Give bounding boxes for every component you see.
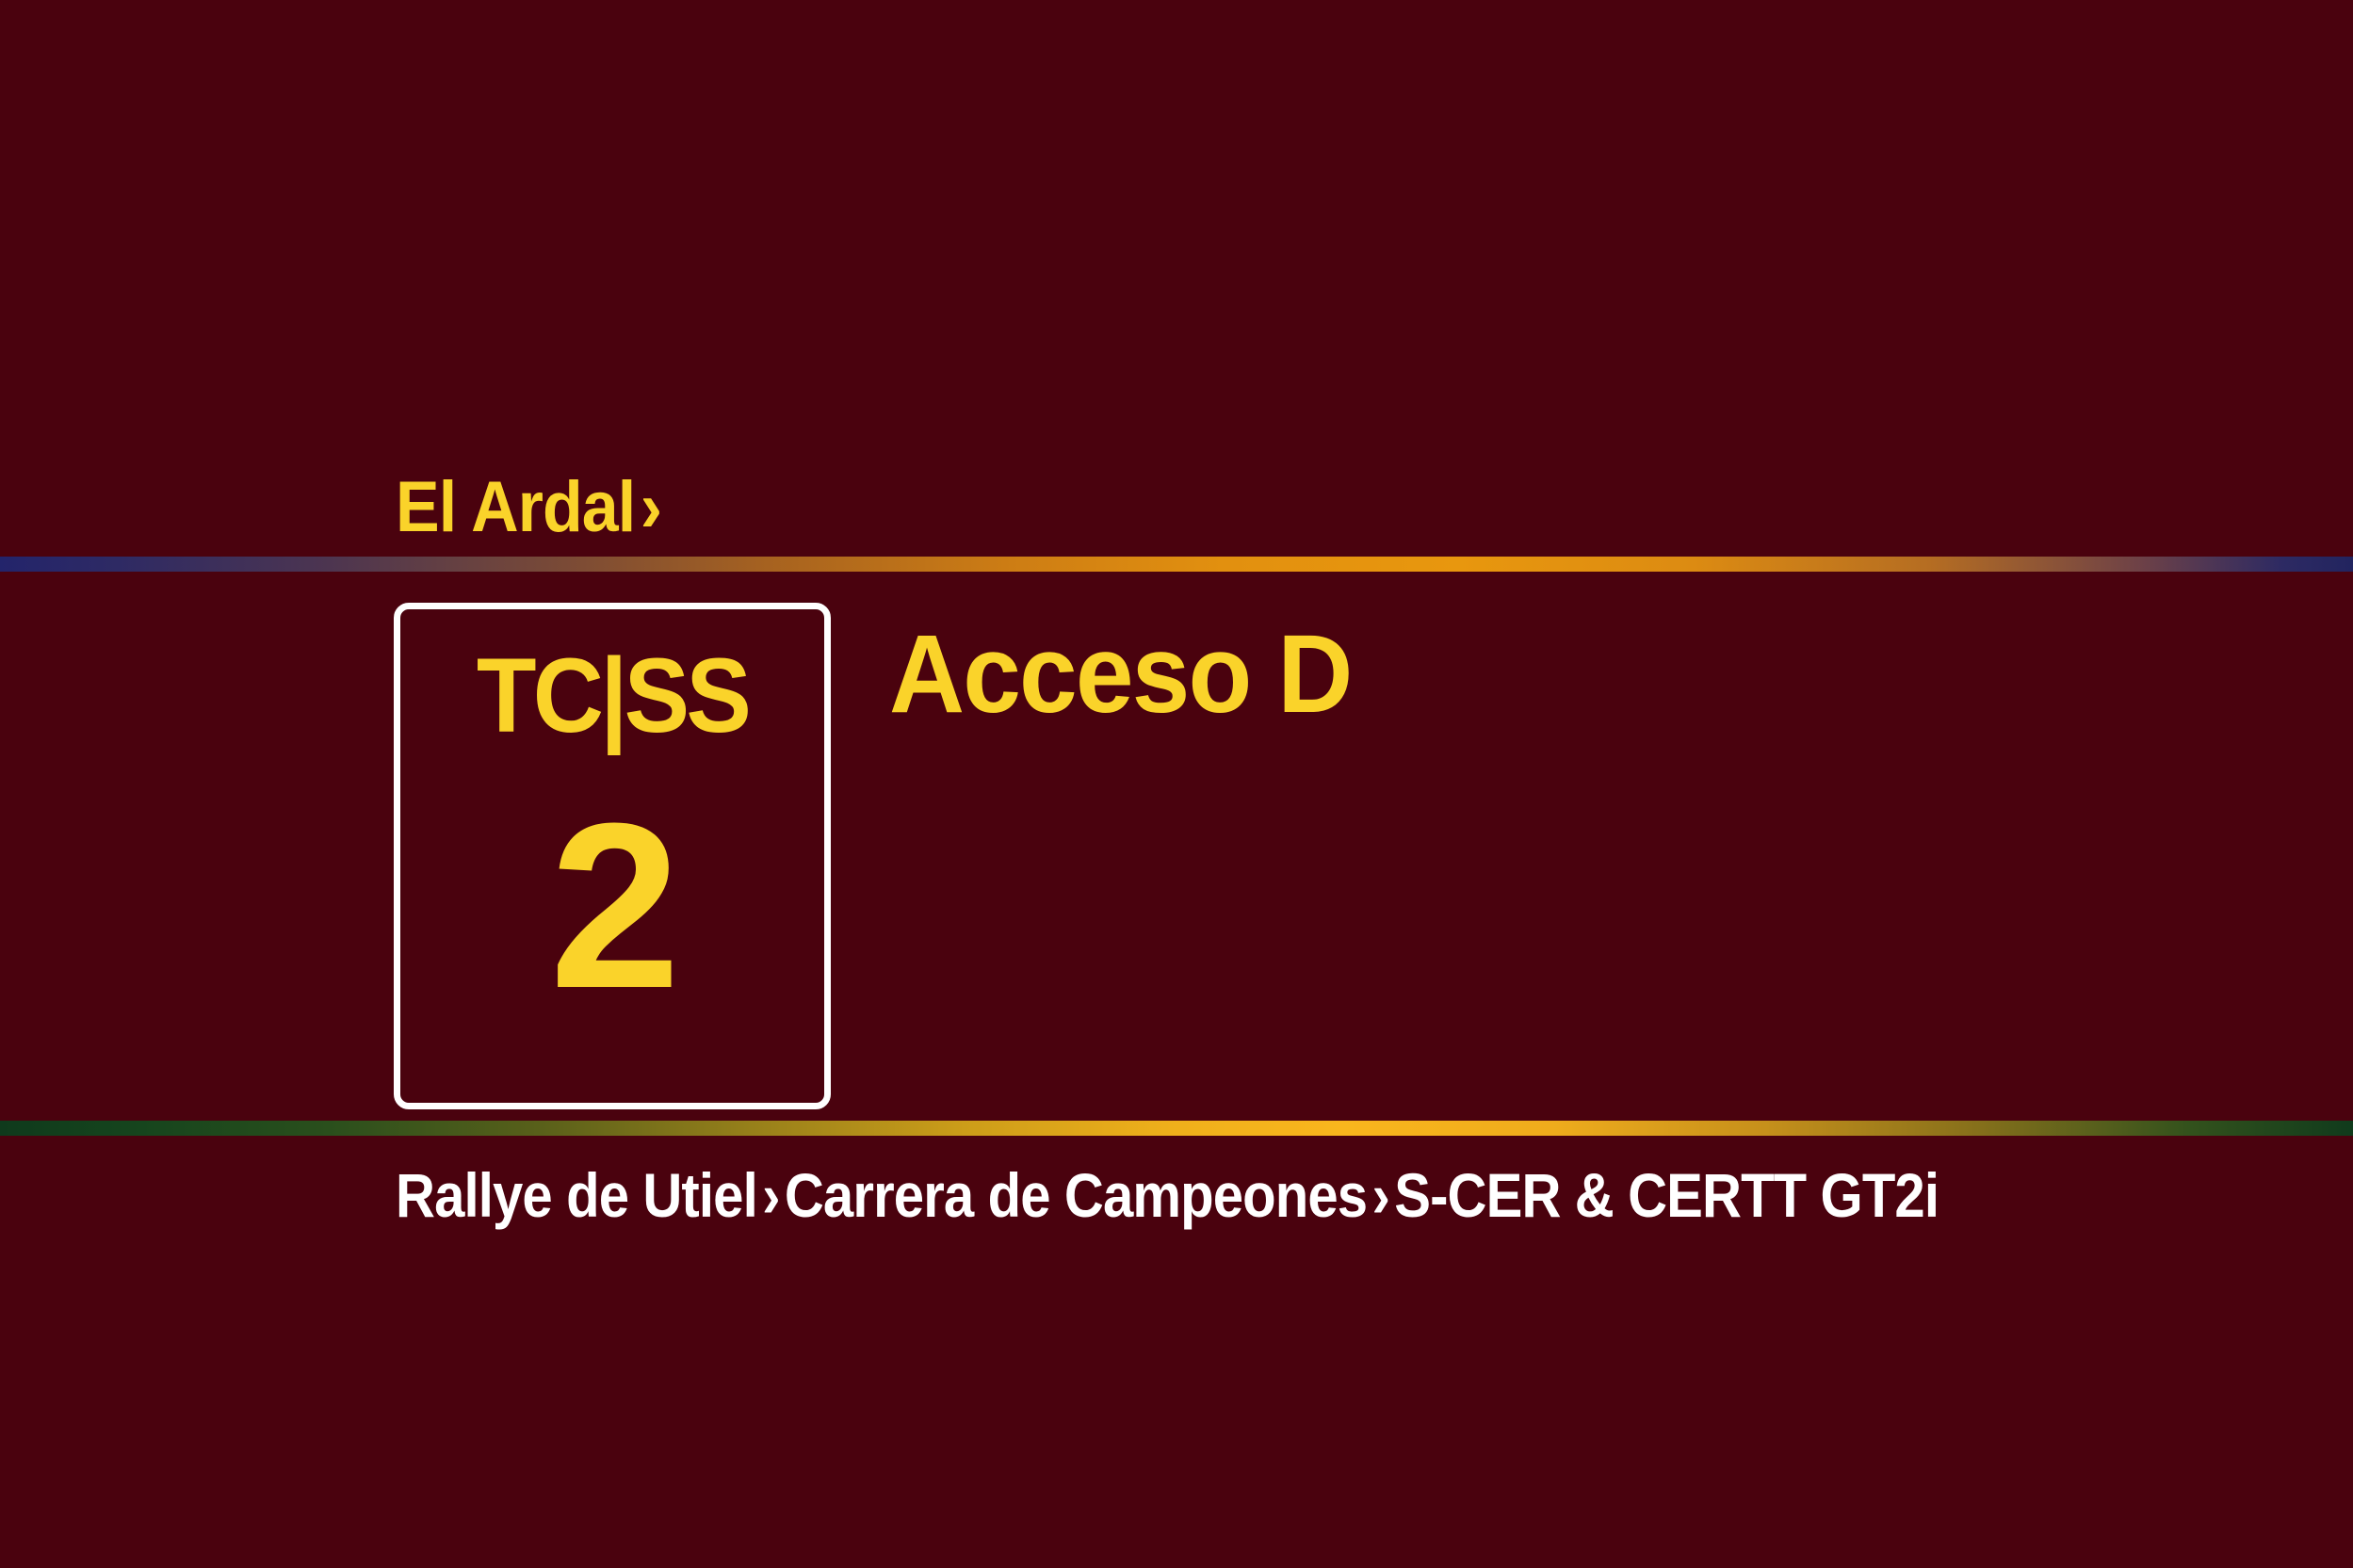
breadcrumb-row: Rallye de Utiel›Carrera de Campeones›S-C…: [0, 1136, 2353, 1277]
stage-badge[interactable]: TC|SS 2: [394, 603, 831, 1109]
stage-banner: El Ardal› TC|SS 2 Acceso D Rallye de Uti…: [0, 0, 2353, 1568]
breadcrumb-separator-icon: ›: [757, 1164, 785, 1226]
divider-bottom: [0, 1121, 2353, 1136]
breadcrumb-item-event[interactable]: Rallye de Utiel: [396, 1160, 757, 1230]
previous-stage-row: El Ardal›: [0, 422, 2353, 557]
badge-type-label: TC|SS: [477, 643, 748, 749]
divider-top: [0, 557, 2353, 572]
badge-number: 2: [549, 788, 674, 1024]
breadcrumb-item-race[interactable]: Carrera de Campeones: [785, 1160, 1367, 1230]
chevron-right-icon: ›: [641, 467, 661, 547]
breadcrumb-separator-icon: ›: [1367, 1164, 1394, 1226]
breadcrumb-item-category[interactable]: S-CER & CERTT GT2i: [1394, 1160, 1939, 1230]
breadcrumb[interactable]: Rallye de Utiel›Carrera de Campeones›S-C…: [396, 1164, 1939, 1226]
stage-title: Acceso D: [889, 619, 1352, 730]
previous-stage-label: El Ardal: [396, 467, 635, 547]
stage-main-row: TC|SS 2 Acceso D: [0, 572, 2353, 1121]
previous-stage-link[interactable]: El Ardal›: [396, 472, 661, 557]
